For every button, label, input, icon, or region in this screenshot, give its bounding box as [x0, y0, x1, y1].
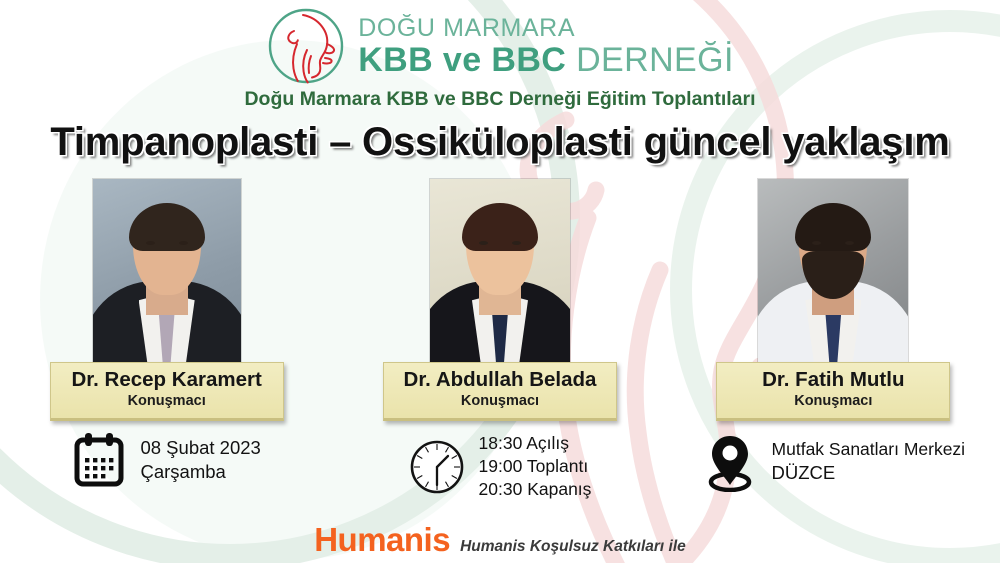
speaker-role: Konuşmacı: [400, 393, 600, 410]
event-location-line-1: Mutfak Sanatları Merkezi: [772, 438, 966, 461]
event-time-line-1: 18:30 Açılış: [479, 432, 592, 455]
portrait-fatih-mutlu: [757, 178, 909, 366]
event-series-subtitle: Doğu Marmara KBB ve BBC Derneği Eğitim T…: [0, 88, 1000, 111]
ent-head-profile-icon: [266, 6, 346, 86]
event-date-block: 08 Şubat 2023 Çarşamba: [17, 432, 317, 488]
logo-line-1: DOĞU MARMARA: [358, 16, 734, 41]
logo-line-2: KBB ve BBC DERNEĞİ: [358, 43, 734, 77]
speaker-name: Dr. Abdullah Belada: [400, 368, 600, 392]
event-details-row: 08 Şubat 2023 Çarşamba 18:30 Açılı: [0, 432, 1000, 512]
speaker-card: Dr. Recep Karamert Konuşmacı: [17, 178, 317, 421]
event-date-text: 08 Şubat 2023 Çarşamba: [140, 436, 260, 485]
speaker-card: Dr. Abdullah Belada Konuşmacı: [350, 178, 650, 421]
speaker-card: Dr. Fatih Mutlu Konuşmacı: [683, 178, 983, 421]
event-time-block: 18:30 Açılış 19:00 Toplantı 20:30 Kapanı…: [350, 432, 650, 501]
portrait-recep-karamert: [92, 178, 242, 366]
speaker-role: Konuşmacı: [67, 393, 267, 410]
logo-strong-text: KBB ve BBC: [358, 41, 566, 79]
calendar-icon: [72, 432, 126, 488]
logo-light-text: DERNEĞİ: [566, 41, 734, 79]
speaker-role: Konuşmacı: [733, 393, 933, 410]
speaker-nameplate: Dr. Recep Karamert Konuşmacı: [50, 362, 284, 421]
event-time-text: 18:30 Açılış 19:00 Toplantı 20:30 Kapanı…: [479, 432, 592, 501]
sponsor-note: Humanis Koşulsuz Katkıları ile: [460, 538, 686, 556]
speaker-name: Dr. Fatih Mutlu: [733, 368, 933, 392]
event-time-line-3: 20:30 Kapanış: [479, 478, 592, 501]
association-logo: DOĞU MARMARA KBB ve BBC DERNEĞİ: [0, 4, 1000, 88]
event-location-line-2: DÜZCE: [772, 461, 966, 485]
clock-icon: [409, 439, 465, 495]
logo-wordmark: DOĞU MARMARA KBB ve BBC DERNEĞİ: [358, 16, 734, 77]
speaker-nameplate: Dr. Abdullah Belada Konuşmacı: [383, 362, 617, 421]
event-poster: DOĞU MARMARA KBB ve BBC DERNEĞİ Doğu Mar…: [0, 0, 1000, 563]
event-location-text: Mutfak Sanatları Merkezi DÜZCE: [772, 438, 966, 486]
event-time-line-2: 19:00 Toplantı: [479, 455, 592, 478]
speakers-row: Dr. Recep Karamert Konuşmacı Dr. Abdulla…: [0, 178, 1000, 418]
event-date-line-2: Çarşamba: [140, 460, 260, 484]
location-pin-icon: [702, 432, 758, 492]
speaker-name: Dr. Recep Karamert: [67, 368, 267, 392]
portrait-abdullah-belada: [429, 178, 571, 366]
event-location-block: Mutfak Sanatları Merkezi DÜZCE: [683, 432, 983, 492]
sponsor-footer: Humanis Humanis Koşulsuz Katkıları ile: [0, 521, 1000, 559]
page-title: Timpanoplasti – Ossiküloplasti güncel ya…: [0, 120, 1000, 165]
sponsor-brand-name: Humanis: [314, 521, 450, 559]
event-date-line-1: 08 Şubat 2023: [140, 436, 260, 460]
speaker-nameplate: Dr. Fatih Mutlu Konuşmacı: [716, 362, 950, 421]
